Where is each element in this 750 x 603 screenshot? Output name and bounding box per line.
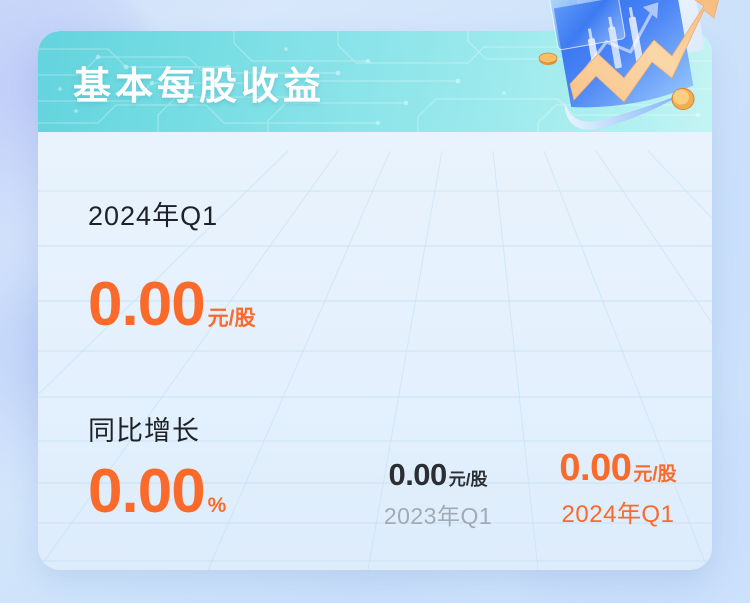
infographic-canvas: 基本每股收益 2024年Q1 0.00 元/股 同比增长 0.00 % 0.00… [0, 0, 750, 603]
primary-period-label: 2024年Q1 [88, 194, 218, 233]
growth-metric-value: 0.00 % [88, 461, 226, 523]
growth-label: 同比增长 [88, 409, 200, 448]
comparison-previous-label: 2023年Q1 [348, 497, 528, 531]
comparison-previous-number: 0.00 [388, 459, 446, 490]
growth-value-unit: % [208, 494, 227, 518]
comparison-column-previous: 0.00 元/股 2023年Q1 [348, 459, 528, 531]
comparison-current-number: 0.00 [559, 449, 631, 487]
primary-value-unit: 元/股 [208, 302, 256, 332]
metric-card: 基本每股收益 2024年Q1 0.00 元/股 同比增长 0.00 % 0.00… [38, 31, 712, 570]
comparison-previous-unit: 元/股 [449, 471, 488, 488]
comparison-current-unit: 元/股 [633, 465, 676, 484]
comparison-previous-value: 0.00 元/股 [348, 459, 528, 490]
comparison-column-current: 0.00 元/股 2024年Q1 [518, 449, 712, 529]
primary-metric-value: 0.00 元/股 [88, 274, 256, 336]
card-header-banner: 基本每股收益 [38, 31, 712, 132]
page-title: 基本每股收益 [73, 55, 325, 110]
comparison-current-value: 0.00 元/股 [518, 449, 712, 487]
growth-value-number: 0.00 [88, 461, 205, 523]
comparison-current-label: 2024年Q1 [518, 494, 712, 529]
primary-value-number: 0.00 [88, 274, 205, 336]
